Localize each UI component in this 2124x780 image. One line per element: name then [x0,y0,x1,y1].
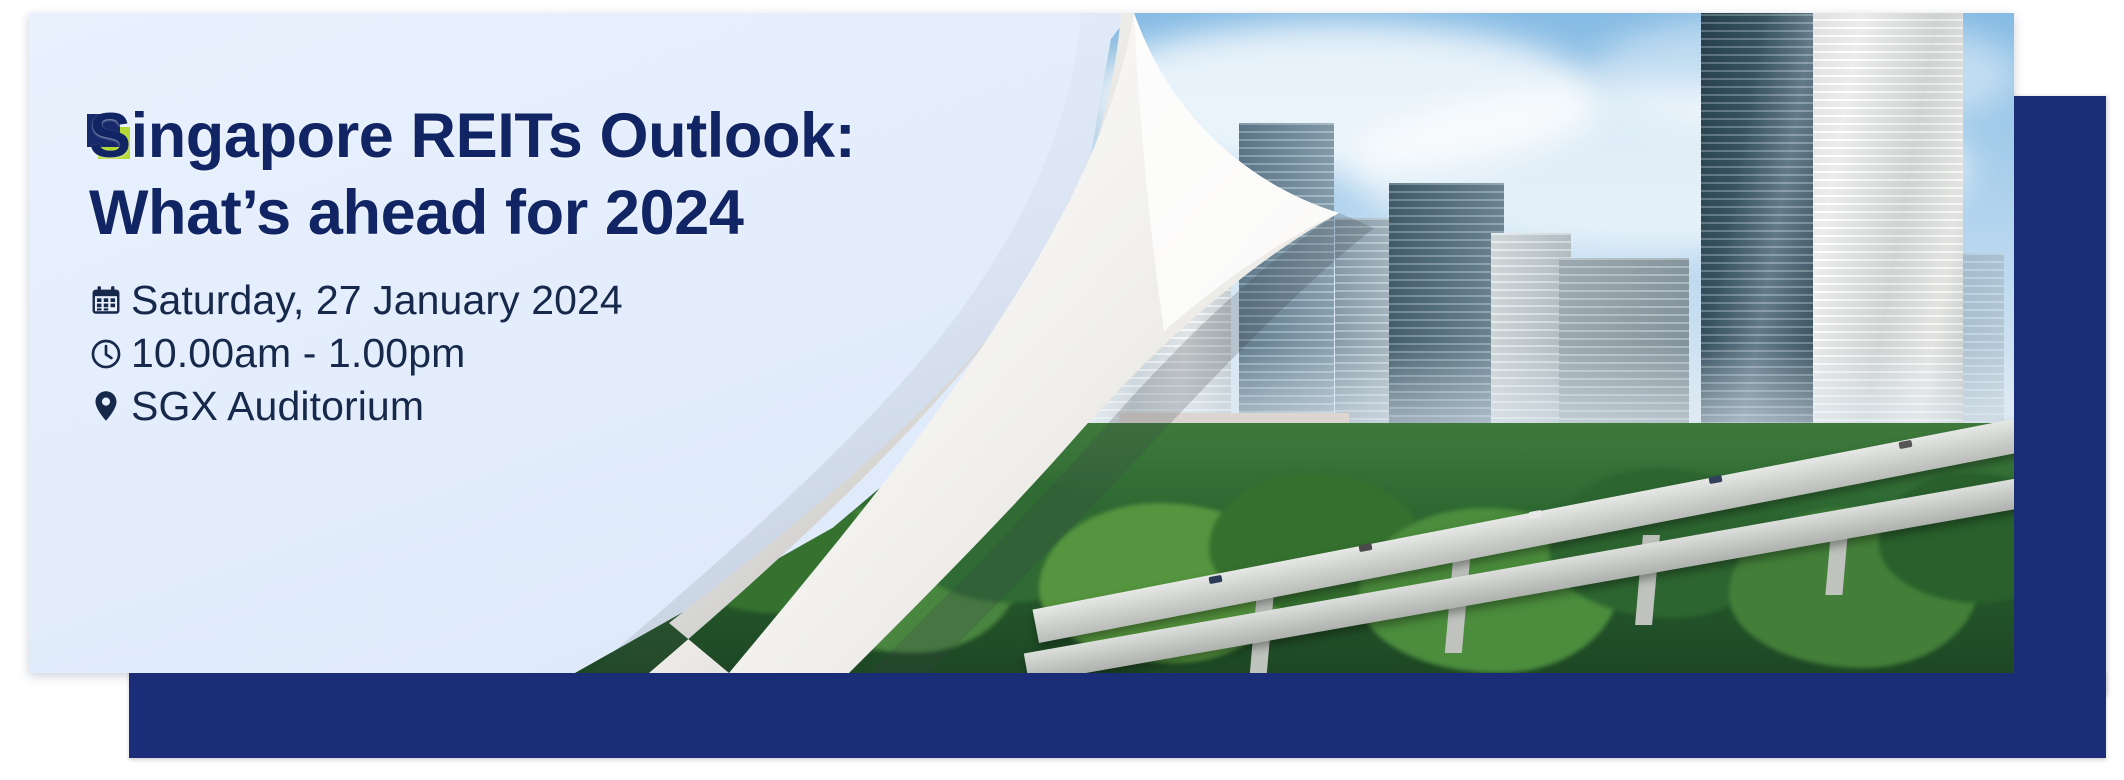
title-line-2: What’s ahead for 2024 [89,175,949,252]
title-line-1: Singapore REITs Outlook: [89,101,855,171]
navy-accent-right [2012,96,2106,696]
navy-accent-bottom [129,671,2106,758]
page-title: Singapore REITs Outlook: What’s ahead fo… [89,98,949,252]
location-pin-icon [89,386,131,426]
calendar-icon [89,281,131,321]
event-date-text: Saturday, 27 January 2024 [131,278,623,324]
banner-root: Singapore REITs Outlook: What’s ahead fo… [0,0,2124,780]
event-venue-text: SGX Auditorium [131,384,424,430]
clock-icon [89,334,131,374]
event-detail-time: 10.00am - 1.00pm [89,331,949,377]
banner-content: Singapore REITs Outlook: What’s ahead fo… [89,98,949,436]
event-details-list: Saturday, 27 January 2024 10.00am - 1.00… [89,278,949,430]
event-banner-card: Singapore REITs Outlook: What’s ahead fo… [29,13,2014,673]
event-detail-date: Saturday, 27 January 2024 [89,278,949,324]
event-detail-venue: SGX Auditorium [89,384,949,430]
event-time-text: 10.00am - 1.00pm [131,331,465,377]
